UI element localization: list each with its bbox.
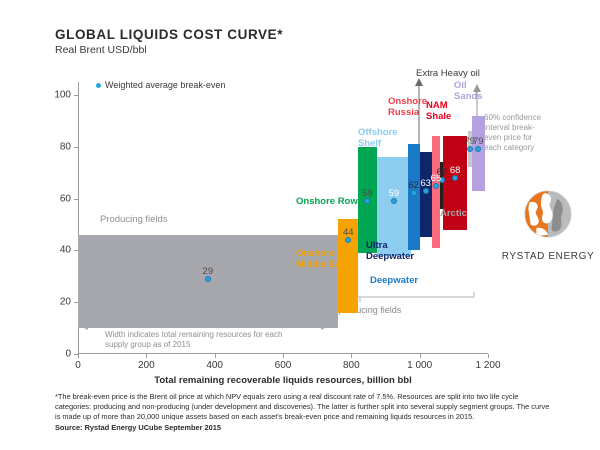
logo-text: RYSTAD ENERGY <box>500 251 596 262</box>
bar-ultra-deepwater[interactable] <box>420 152 432 237</box>
y-tick-label: 60 <box>60 193 71 204</box>
category-label-ultra-deepwater: Ultra Deepwater <box>366 240 414 262</box>
page-title: GLOBAL LIQUIDS COST CURVE* <box>55 27 283 42</box>
bar-value-label: 63 <box>420 178 431 189</box>
rystad-energy-logo: RYSTAD ENERGY <box>500 185 596 262</box>
x-tick-mark <box>488 354 489 358</box>
bar-value-label: 59 <box>362 188 373 199</box>
x-tick-label: 200 <box>138 360 155 371</box>
bar-value-label: 29 <box>203 266 214 277</box>
x-tick-label: 0 <box>75 360 81 371</box>
y-tick-mark <box>74 199 78 200</box>
category-label-offshore-shelf: Offshore Shelf <box>358 127 398 149</box>
x-tick-mark <box>283 354 284 358</box>
y-tick-label: 100 <box>54 89 71 100</box>
bar-oil-sands[interactable] <box>472 116 485 191</box>
x-tick-label: 1 000 <box>407 360 432 371</box>
y-tick-label: 0 <box>65 349 71 360</box>
x-tick-mark <box>351 354 352 358</box>
x-tick-label: 1 200 <box>475 360 500 371</box>
footnote: *The break-even price is the Brent oil p… <box>55 392 555 433</box>
producing-fields-label: Producing fields <box>100 214 168 225</box>
bar-deepwater[interactable] <box>408 144 420 250</box>
bar-value-label: 79 <box>473 136 484 147</box>
bar-onshore-russia[interactable] <box>432 136 441 247</box>
x-tick-mark <box>78 354 79 358</box>
x-tick-label: 800 <box>343 360 360 371</box>
page-subtitle: Real Brent USD/bbl <box>55 44 147 56</box>
footnote-source: Source: Rystad Energy UCube September 20… <box>55 423 555 433</box>
width-indicator-note: Width indicates total remaining resource… <box>105 330 345 350</box>
category-label-onshore-russia: Onshore Russia <box>388 96 427 118</box>
category-label-deepwater: Deepwater <box>370 275 418 286</box>
x-tick-mark <box>420 354 421 358</box>
category-label-onshore-row: Onshore Row <box>296 196 358 207</box>
x-tick-label: 600 <box>275 360 292 371</box>
y-tick-label: 20 <box>60 297 71 308</box>
category-label-onshore-middle-east: Onshore Middle East <box>296 248 349 270</box>
category-label-oil-sands: Oil Sands <box>454 80 488 102</box>
extra-heavy-oil-label: Extra Heavy oil <box>416 68 480 79</box>
y-tick-mark <box>74 95 78 96</box>
bar-value-label: 59 <box>389 188 400 199</box>
x-tick-mark <box>146 354 147 358</box>
x-tick-label: 400 <box>206 360 223 371</box>
globe-icon <box>519 185 577 243</box>
x-axis-title: Total remaining recoverable liquids reso… <box>78 375 488 386</box>
bar-value-label: 68 <box>450 165 461 176</box>
category-label-arctic: Arctic <box>440 208 467 219</box>
bar-value-label: 44 <box>343 227 354 238</box>
chart-page: GLOBAL LIQUIDS COST CURVE* Real Brent US… <box>0 0 600 450</box>
category-label-nam-shale: NAM Shale <box>426 100 451 122</box>
footnote-body: *The break-even price is the Brent oil p… <box>55 392 549 421</box>
confidence-interval-note: 60% confidence interval break-even price… <box>484 113 546 153</box>
y-tick-label: 80 <box>60 141 71 152</box>
bar-value-label: 67 <box>437 167 448 178</box>
bar-value-label: 62 <box>408 180 419 191</box>
y-tick-mark <box>74 147 78 148</box>
x-tick-mark <box>215 354 216 358</box>
y-tick-label: 40 <box>60 245 71 256</box>
